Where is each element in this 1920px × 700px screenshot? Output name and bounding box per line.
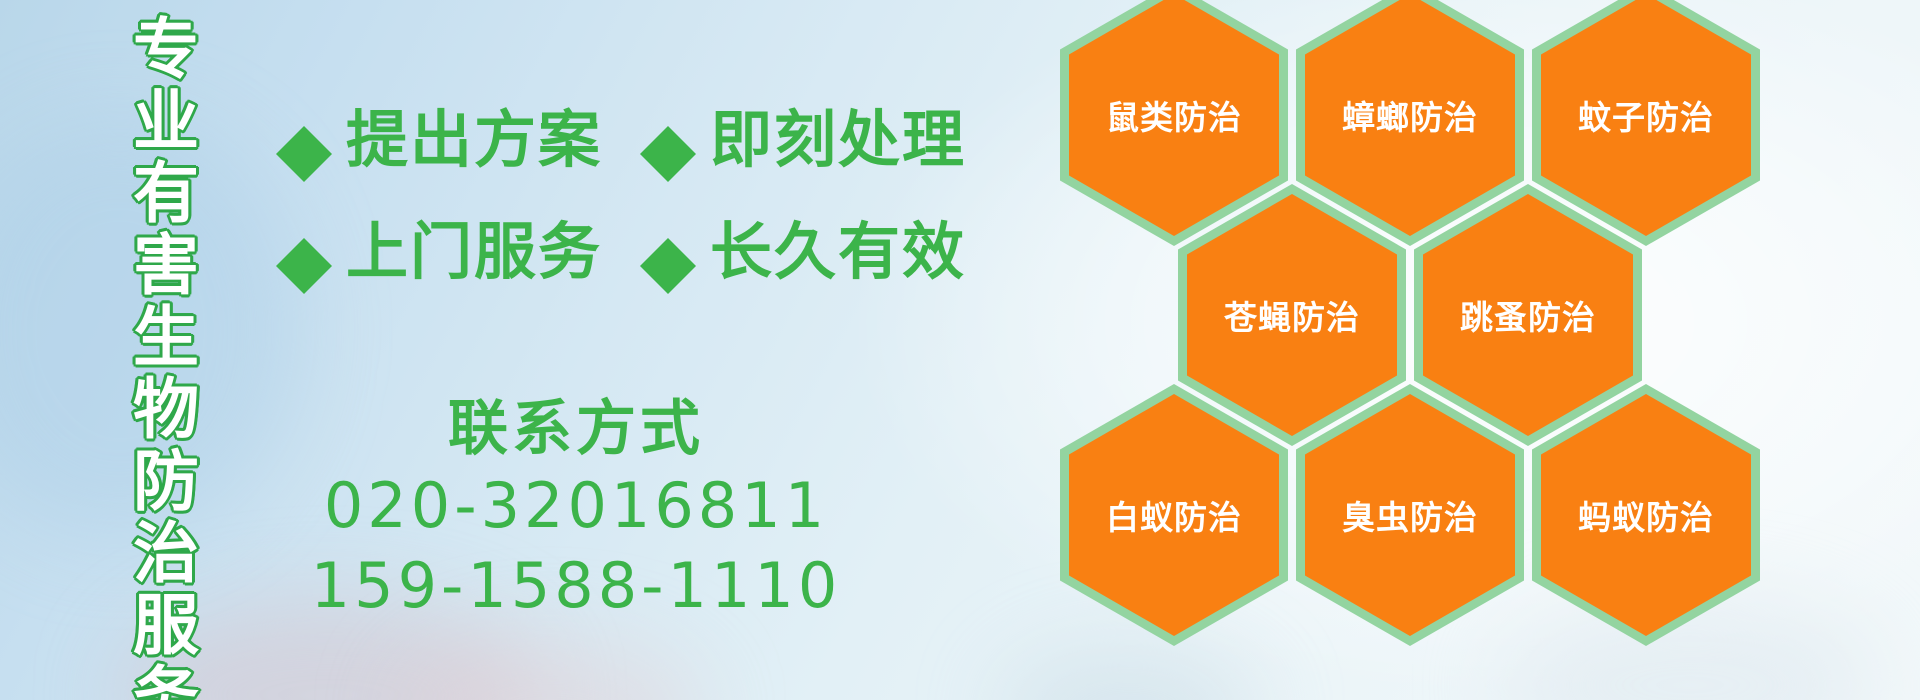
diamond-bullet-icon bbox=[640, 210, 696, 266]
service-label: 苍蝇防治 bbox=[1224, 291, 1360, 339]
vertical-headline-char: 治 bbox=[133, 518, 199, 590]
service-honeycomb: 鼠类防治 蟑螂防治 蚊子防治 苍蝇防治 跳蚤防治 白蚁防治 臭虫防治 bbox=[1060, 0, 1800, 700]
diamond-bullet-icon bbox=[640, 98, 696, 154]
vertical-headline-char: 生 bbox=[133, 302, 199, 374]
feature-item-propose-plan: 提出方案 bbox=[276, 109, 602, 171]
vertical-headline-char: 专 bbox=[133, 14, 199, 86]
vertical-headline-char: 服 bbox=[133, 590, 199, 662]
feature-label: 即刻处理 bbox=[710, 109, 966, 171]
feature-item-onsite-service: 上门服务 bbox=[276, 221, 602, 283]
feature-row: 提出方案 即刻处理 bbox=[276, 84, 876, 196]
vertical-headline-char: 业 bbox=[133, 86, 199, 158]
contact-heading: 联系方式 bbox=[276, 392, 876, 466]
service-label: 蚂蚁防治 bbox=[1578, 491, 1714, 539]
feature-item-immediate-handling: 即刻处理 bbox=[640, 109, 966, 171]
pest-control-banner: 专 业 有 害 生 物 防 治 服 务 提出方案 即刻处理 上门服务 bbox=[0, 0, 1920, 700]
diamond-bullet-icon bbox=[276, 210, 332, 266]
contact-block: 联系方式 020-32016811 159-1588-1110 bbox=[276, 392, 876, 626]
feature-label: 提出方案 bbox=[346, 109, 602, 171]
background-blob bbox=[400, 640, 700, 700]
vertical-headline-char: 防 bbox=[133, 446, 199, 518]
vertical-headline-char: 务 bbox=[133, 662, 199, 700]
service-label: 跳蚤防治 bbox=[1460, 291, 1596, 339]
feature-label: 上门服务 bbox=[346, 221, 602, 283]
phone-mobile[interactable]: 159-1588-1110 bbox=[276, 546, 876, 626]
service-label: 蟑螂防治 bbox=[1342, 91, 1478, 139]
service-label: 鼠类防治 bbox=[1106, 91, 1242, 139]
vertical-headline: 专 业 有 害 生 物 防 治 服 务 bbox=[112, 14, 220, 686]
vertical-headline-char: 有 bbox=[133, 158, 199, 230]
feature-list: 提出方案 即刻处理 上门服务 长久有效 bbox=[276, 84, 876, 308]
feature-label: 长久有效 bbox=[710, 221, 966, 283]
service-label: 蚊子防治 bbox=[1578, 91, 1714, 139]
diamond-bullet-icon bbox=[276, 98, 332, 154]
service-label: 白蚁防治 bbox=[1106, 491, 1242, 539]
phone-landline[interactable]: 020-32016811 bbox=[276, 466, 876, 546]
vertical-headline-char: 物 bbox=[133, 374, 199, 446]
feature-item-long-lasting: 长久有效 bbox=[640, 221, 966, 283]
service-label: 臭虫防治 bbox=[1342, 491, 1478, 539]
feature-row: 上门服务 长久有效 bbox=[276, 196, 876, 308]
vertical-headline-char: 害 bbox=[133, 230, 199, 302]
